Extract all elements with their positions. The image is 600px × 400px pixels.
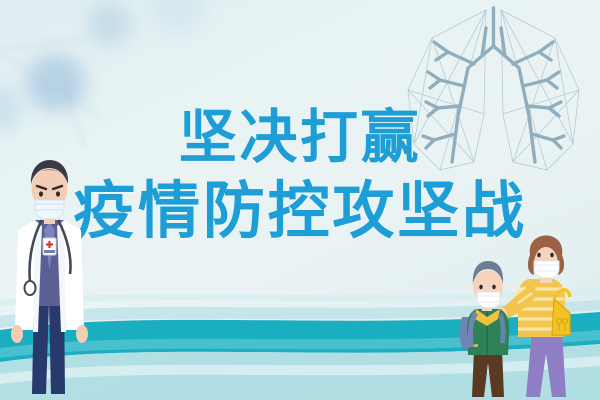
doctor-coat-left xyxy=(15,220,35,330)
doctor-eye-left xyxy=(39,191,43,196)
doctor-figure xyxy=(2,142,98,400)
mother-face-mask xyxy=(534,261,559,278)
doctor-hand-left xyxy=(11,325,23,343)
molecule-blob xyxy=(150,0,206,34)
mother-eye-left xyxy=(537,253,540,258)
boy-eye-right xyxy=(492,285,495,289)
lungs-illustration xyxy=(374,0,600,199)
molecule-blob xyxy=(0,86,22,132)
stethoscope-chestpiece xyxy=(25,281,36,295)
family-figures xyxy=(460,225,600,400)
molecule-stalk xyxy=(0,36,88,53)
lungs-bronchial-tree xyxy=(423,8,564,162)
boy-face-mask xyxy=(477,292,500,308)
mother-bag xyxy=(552,299,570,335)
molecule-blob xyxy=(86,2,132,46)
doctor-hand-right xyxy=(76,325,88,343)
poster-canvas: 坚决打赢 疫情防控攻坚战 xyxy=(0,0,600,400)
mother-pants xyxy=(526,331,566,397)
boy-eye-left xyxy=(479,285,482,289)
doctor-eye-right xyxy=(56,191,60,196)
boy-pants xyxy=(472,349,504,397)
mother-eye-right xyxy=(550,253,553,258)
badge-text-bar xyxy=(44,250,55,253)
doctor-coat-right xyxy=(64,220,84,330)
molecule-blob xyxy=(26,54,86,112)
